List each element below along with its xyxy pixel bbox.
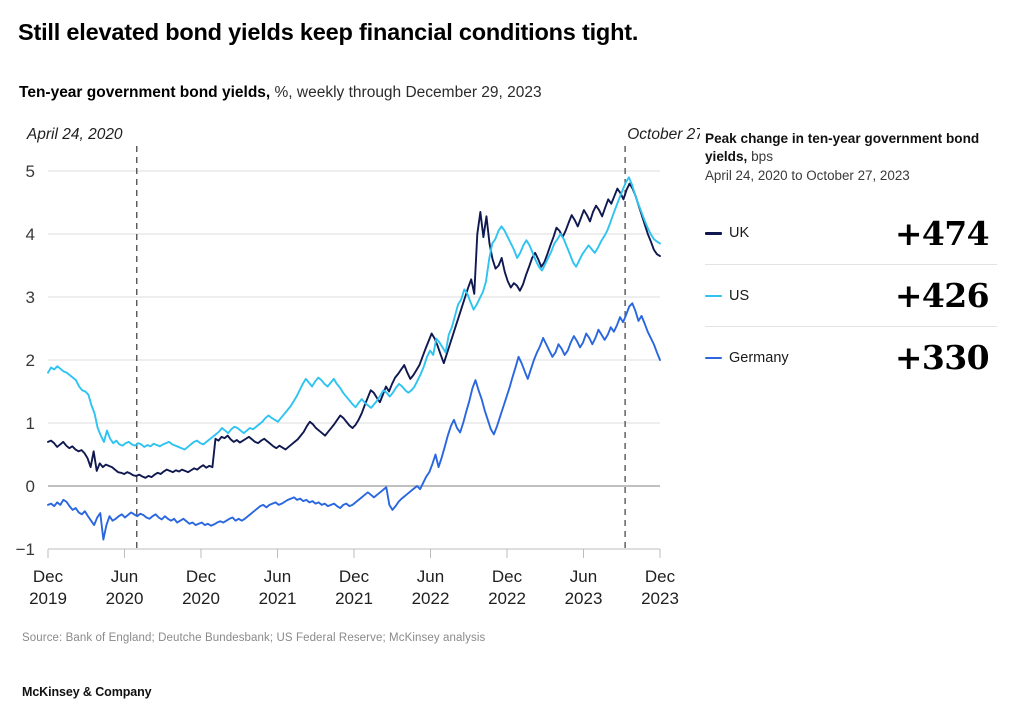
y-axis-tick-label: 3: [26, 288, 35, 307]
peak-change-panel: Peak change in ten-year government bond …: [705, 130, 1005, 388]
y-axis-tick-label: 0: [26, 477, 35, 496]
chart-subtitle: Ten-year government bond yields, %, week…: [19, 83, 919, 103]
x-axis-tick-label-month: Dec: [492, 567, 523, 586]
legend-label: Germany: [729, 350, 789, 366]
legend-left: Germany: [705, 350, 789, 366]
x-axis-tick-label-month: Dec: [339, 567, 370, 586]
x-axis-tick-label-year: 2021: [335, 589, 373, 608]
chart-subtitle-bold: Ten-year government bond yields,: [19, 84, 270, 101]
legend-left: UK: [705, 225, 749, 241]
panel-title-unit: bps: [747, 149, 773, 164]
page-title: Still elevated bond yields keep financia…: [18, 18, 978, 46]
chart-page: Still elevated bond yields keep financia…: [0, 0, 1021, 727]
x-axis-tick-label-year: 2023: [565, 589, 603, 608]
x-axis-tick-label-month: Dec: [33, 567, 64, 586]
legend-label: UK: [729, 225, 749, 241]
legend-label: US: [729, 288, 749, 304]
legend-row-us[interactable]: US+426: [705, 264, 997, 326]
x-axis-tick-label-year: 2022: [412, 589, 450, 608]
chart-canvas: −1012345Dec2019Jun2020Dec2020Jun2021Dec2…: [0, 120, 700, 620]
source-note: Source: Bank of England; Deutche Bundesb…: [22, 632, 485, 644]
y-axis-tick-label: 4: [26, 225, 35, 244]
y-axis-tick-label: 5: [26, 162, 35, 181]
x-axis-tick-label-month: Jun: [264, 567, 291, 586]
legend-swatch-icon: [705, 232, 722, 235]
x-axis-tick-label-month: Dec: [186, 567, 217, 586]
legend-row-uk[interactable]: UK+474: [705, 202, 997, 264]
annotation-label-2: October 27, 2023: [627, 126, 700, 143]
y-axis-tick-label: 1: [26, 414, 35, 433]
legend-value: +474: [895, 217, 997, 250]
x-axis-tick-label-year: 2021: [259, 589, 297, 608]
line-chart: −1012345Dec2019Jun2020Dec2020Jun2021Dec2…: [0, 120, 700, 620]
panel-subtitle: April 24, 2020 to October 27, 2023: [705, 167, 1005, 184]
series-line-uk: [48, 184, 660, 478]
chart-subtitle-rest: %, weekly through December 29, 2023: [270, 84, 541, 101]
y-axis-tick-label: −1: [16, 540, 35, 559]
x-axis-tick-label-year: 2020: [106, 589, 144, 608]
series-line-germany: [48, 303, 660, 539]
legend-value: +426: [895, 279, 997, 312]
x-axis-tick-label-year: 2023: [641, 589, 679, 608]
legend-swatch-icon: [705, 295, 722, 298]
x-axis-tick-label-year: 2019: [29, 589, 67, 608]
legend-left: US: [705, 288, 749, 304]
annotation-label-1: April 24, 2020: [26, 126, 123, 143]
x-axis-tick-label-month: Jun: [570, 567, 597, 586]
panel-title: Peak change in ten-year government bond …: [705, 130, 1005, 166]
legend-list: UK+474US+426Germany+330: [705, 202, 997, 388]
x-axis-tick-label-month: Jun: [417, 567, 444, 586]
x-axis-tick-label-month: Dec: [645, 567, 676, 586]
legend-value: +330: [895, 341, 997, 374]
x-axis-tick-label-year: 2020: [182, 589, 220, 608]
legend-row-germany[interactable]: Germany+330: [705, 326, 997, 388]
legend-swatch-icon: [705, 357, 722, 360]
x-axis-tick-label-month: Jun: [111, 567, 138, 586]
x-axis-tick-label-year: 2022: [488, 589, 526, 608]
series-line-us: [48, 177, 660, 449]
y-axis-tick-label: 2: [26, 351, 35, 370]
brand-footer: McKinsey & Company: [22, 685, 151, 699]
